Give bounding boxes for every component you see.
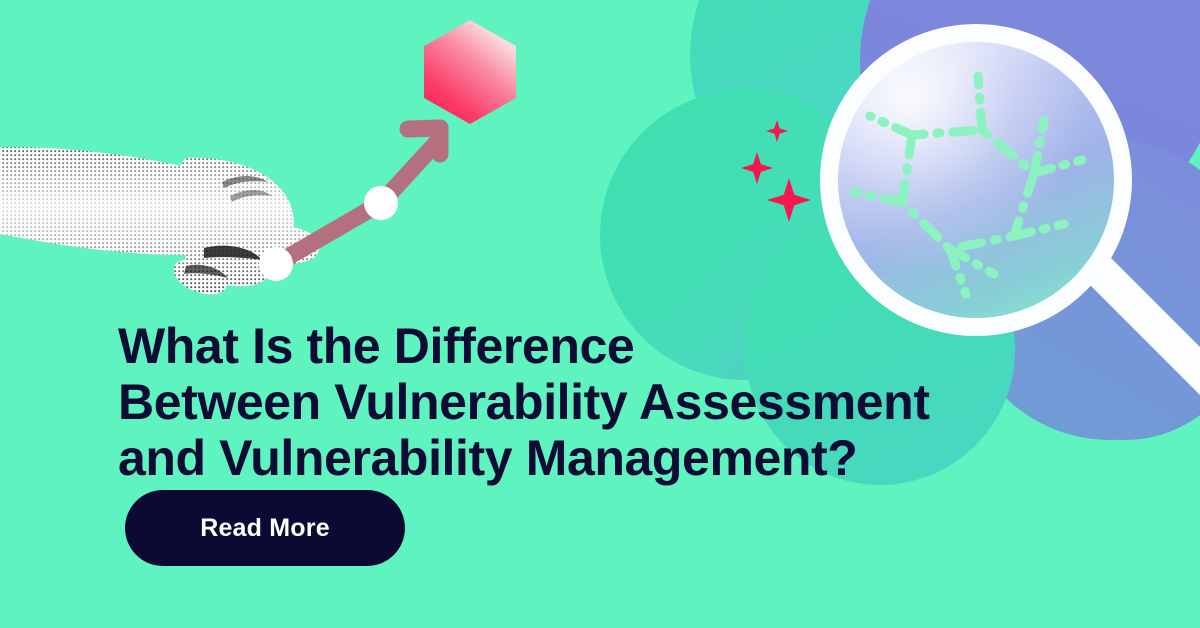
page-title: What Is the Difference Between Vulnerabi…	[118, 318, 1078, 486]
molecule-icon	[838, 42, 1114, 318]
sparkle-icon-medium	[741, 152, 773, 184]
halftone-hand-image	[0, 130, 370, 300]
magnifier-lens	[838, 42, 1114, 318]
sparkle-icon-large	[767, 178, 811, 222]
sparkle-icon-small	[766, 120, 788, 142]
promo-banner: What Is the Difference Between Vulnerabi…	[0, 0, 1200, 628]
gradient-hexagon-icon	[424, 20, 516, 124]
hand-illustration	[0, 130, 370, 300]
read-more-button[interactable]: Read More	[125, 490, 405, 566]
